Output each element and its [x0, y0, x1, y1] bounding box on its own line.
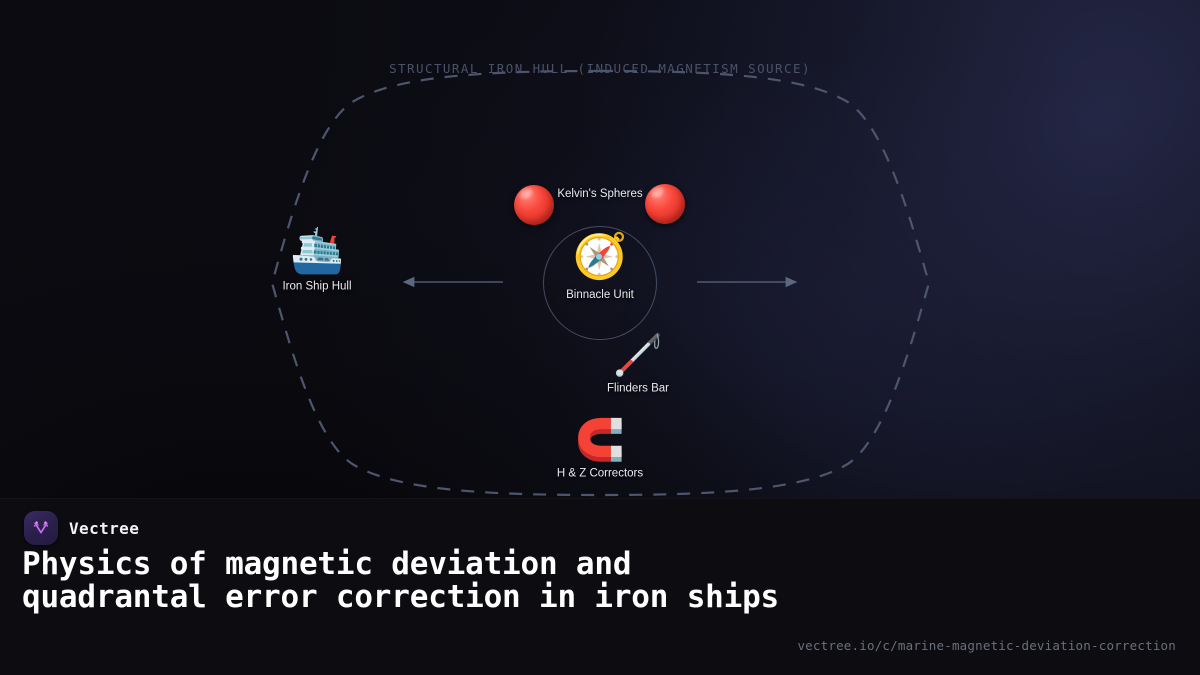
red-sphere-icon-right[interactable] — [645, 184, 685, 224]
node-binnacle-label: Binnacle Unit — [515, 289, 685, 301]
node-hz-correctors[interactable]: 🧲 H & Z Correctors — [515, 421, 685, 480]
red-sphere-icon-left[interactable] — [514, 185, 554, 225]
node-iron-ship-hull-label: Iron Ship Hull — [232, 281, 402, 293]
magnet-icon: 🧲 — [515, 421, 685, 461]
brand[interactable]: Vectree — [24, 511, 139, 545]
ship-icon: 🛳️ — [232, 230, 402, 274]
vectree-logo-glyph — [31, 518, 51, 538]
magnetism-diagram: STRUCTURAL IRON HULL (INDUCED MAGNETISM … — [0, 0, 1200, 510]
page-title: Physics of magnetic deviation and quadra… — [22, 548, 782, 613]
node-iron-ship-hull[interactable]: 🛳️ Iron Ship Hull — [232, 230, 402, 293]
node-flinders-bar-label: Flinders Bar — [553, 383, 723, 395]
compass-icon: 🧭 — [515, 235, 685, 279]
hull-boundary-label: STRUCTURAL IRON HULL (INDUCED MAGNETISM … — [0, 61, 1200, 76]
node-binnacle[interactable]: 🧭 Binnacle Unit — [515, 235, 685, 301]
footer: Vectree Physics of magnetic deviation an… — [0, 498, 1200, 675]
node-hz-correctors-label: H & Z Correctors — [515, 468, 685, 480]
brand-name: Vectree — [69, 519, 139, 538]
node-flinders-bar[interactable]: 🦯 Flinders Bar — [553, 336, 723, 395]
poster-canvas: STRUCTURAL IRON HULL (INDUCED MAGNETISM … — [0, 0, 1200, 675]
cane-icon: 🦯 — [553, 336, 723, 376]
footer-url: vectree.io/c/marine-magnetic-deviation-c… — [797, 638, 1176, 653]
kelvins-spheres-label: Kelvin's Spheres — [557, 188, 642, 200]
vectree-logo-icon — [24, 511, 58, 545]
